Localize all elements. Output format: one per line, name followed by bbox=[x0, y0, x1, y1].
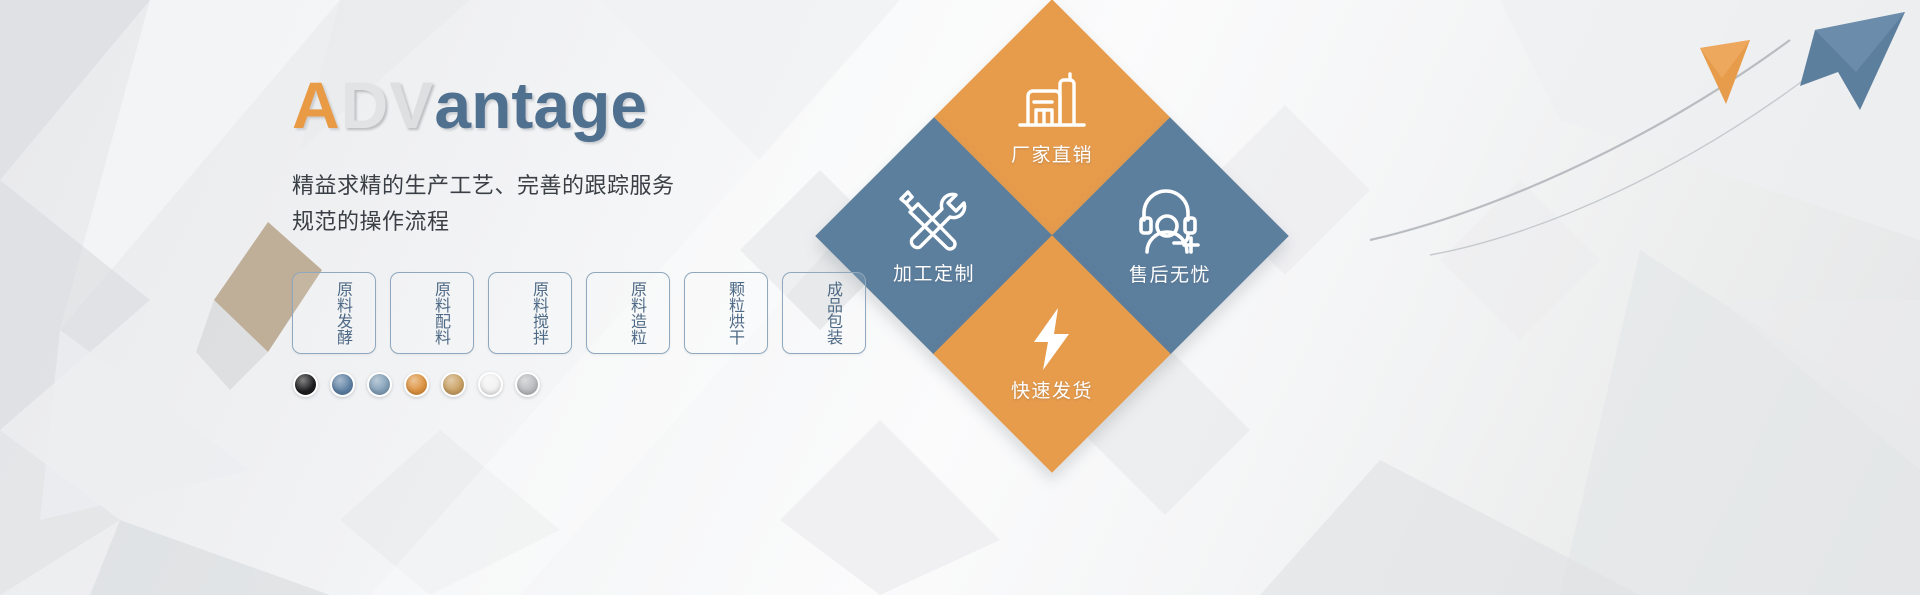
color-swatch-dot[interactable] bbox=[293, 372, 318, 397]
process-step-label: 原料配料 bbox=[415, 281, 449, 345]
advantage-banner: ADVantage 精益求精的生产工艺、完善的跟踪服务 规范的操作流程 原料发酵… bbox=[0, 0, 1920, 595]
process-step-label: 原料发酵 bbox=[317, 281, 351, 345]
subtitle-line-1: 精益求精的生产工艺、完善的跟踪服务 bbox=[292, 168, 932, 204]
factory-icon bbox=[1014, 70, 1090, 136]
process-step-item[interactable]: 原料搅拌 bbox=[488, 272, 572, 354]
color-swatch-dot[interactable] bbox=[404, 372, 429, 397]
advantage-label: 加工定制 bbox=[893, 259, 975, 286]
color-swatch-dot[interactable] bbox=[367, 372, 392, 397]
headline-letter-a: A bbox=[292, 72, 341, 138]
process-step-label: 原料搅拌 bbox=[513, 281, 547, 345]
color-swatch-dot[interactable] bbox=[330, 372, 355, 397]
process-step-label: 原料造粒 bbox=[611, 281, 645, 345]
process-step-list: 原料发酵 原料配料 原料搅拌 原料造粒 颗粒烘干 成品包装 bbox=[292, 272, 866, 354]
advantage-card-shipping[interactable]: 快速发货 bbox=[933, 235, 1171, 473]
advantage-label: 快速发货 bbox=[1011, 376, 1093, 403]
advantage-label: 厂家直销 bbox=[1011, 140, 1093, 167]
headline-suffix: antage bbox=[434, 72, 647, 138]
process-step-item[interactable]: 颗粒烘干 bbox=[684, 272, 768, 354]
subtitle-line-2: 规范的操作流程 bbox=[292, 204, 932, 240]
color-swatch-dot[interactable] bbox=[478, 372, 503, 397]
process-step-item[interactable]: 原料配料 bbox=[390, 272, 474, 354]
process-step-label: 成品包装 bbox=[807, 281, 841, 345]
process-step-item[interactable]: 成品包装 bbox=[782, 272, 866, 354]
color-swatch-dot[interactable] bbox=[515, 372, 540, 397]
advantage-label: 售后无忧 bbox=[1129, 260, 1211, 287]
process-step-item[interactable]: 原料发酵 bbox=[292, 272, 376, 354]
color-swatch-list bbox=[293, 372, 540, 397]
subtitle: 精益求精的生产工艺、完善的跟踪服务 规范的操作流程 bbox=[292, 168, 932, 239]
advantage-diamond-cluster: 厂家直销 售后无忧 bbox=[880, 0, 1500, 595]
headline-letter-v: V bbox=[389, 72, 434, 138]
left-content-column: ADVantage 精益求精的生产工艺、完善的跟踪服务 规范的操作流程 bbox=[292, 72, 932, 239]
process-step-item[interactable]: 原料造粒 bbox=[586, 272, 670, 354]
page-title: ADVantage bbox=[292, 72, 932, 146]
process-step-label: 颗粒烘干 bbox=[709, 281, 743, 345]
headset-icon bbox=[1131, 186, 1209, 256]
headline-letter-d: D bbox=[341, 72, 390, 138]
color-swatch-dot[interactable] bbox=[441, 372, 466, 397]
lightning-icon bbox=[1028, 306, 1076, 372]
